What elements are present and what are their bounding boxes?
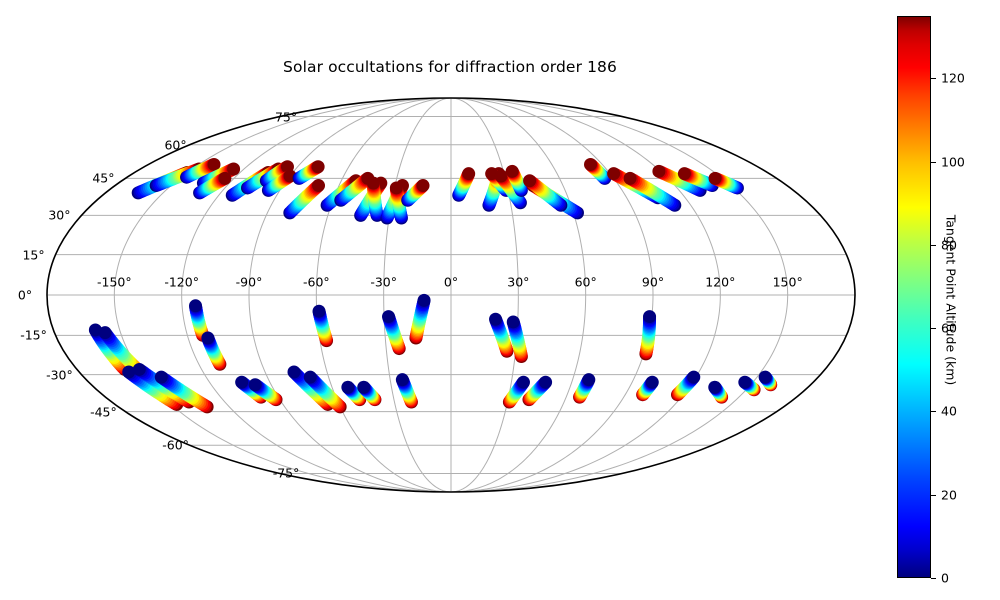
- track-point: [304, 371, 317, 384]
- track-point: [643, 310, 656, 323]
- occultation-track: [708, 381, 728, 404]
- colorbar-tick-mark: [931, 411, 936, 412]
- colorbar[interactable]: 020406080100120: [897, 16, 931, 578]
- track-point: [678, 167, 691, 180]
- occultation-track: [382, 310, 406, 355]
- lon-tick-label: -150°: [97, 275, 132, 290]
- colorbar-tick-label: 40: [941, 404, 957, 419]
- lat-tick-label: 45°: [92, 171, 114, 186]
- track-point: [584, 158, 597, 171]
- track-point: [624, 172, 637, 185]
- track-point: [341, 381, 354, 394]
- colorbar-tick-mark: [931, 495, 936, 496]
- colorbar-label: Tangent Point Altitude (km): [944, 215, 959, 386]
- track-point: [539, 376, 552, 389]
- lat-tick-label: -60°: [162, 438, 189, 453]
- track-point: [99, 326, 112, 339]
- track-point: [418, 294, 431, 307]
- graticule: [47, 98, 855, 492]
- lat-tick-label: 60°: [164, 137, 186, 152]
- colorbar-tick-label: 0: [941, 571, 949, 586]
- track-point: [523, 174, 536, 187]
- occultation-track: [452, 167, 475, 202]
- track-point: [201, 331, 214, 344]
- occultation-track: [201, 331, 226, 370]
- track-point: [646, 376, 659, 389]
- lon-tick-label: -90°: [236, 275, 263, 290]
- track-point: [133, 363, 146, 376]
- lon-tick-label: -60°: [303, 275, 330, 290]
- colorbar-tick-mark: [931, 578, 936, 579]
- track-point: [235, 376, 248, 389]
- track-point: [687, 371, 700, 384]
- lon-tick-label: 150°: [773, 275, 803, 290]
- lon-tick-label: 60°: [575, 275, 597, 290]
- colorbar-tick-mark: [931, 78, 936, 79]
- occultation-track: [759, 371, 778, 392]
- track-point: [708, 381, 721, 394]
- track-point: [155, 371, 168, 384]
- track-point: [218, 172, 231, 185]
- track-point: [382, 310, 395, 323]
- track-point: [312, 179, 325, 192]
- track-point: [738, 376, 751, 389]
- track-point: [709, 172, 722, 185]
- colorbar-tick-mark: [931, 162, 936, 163]
- track-point: [506, 165, 519, 178]
- track-point: [189, 299, 202, 312]
- track-point: [759, 371, 772, 384]
- colorbar-tick-label: 100: [941, 154, 965, 169]
- track-point: [462, 167, 475, 180]
- occultation-track: [671, 371, 700, 402]
- mollweide-map: [0, 0, 1000, 600]
- lat-tick-label: -30°: [46, 367, 73, 382]
- colorbar-gradient: [897, 16, 931, 578]
- occultation-track: [573, 373, 595, 403]
- lon-tick-label: -120°: [164, 275, 199, 290]
- occultation-track: [738, 376, 760, 397]
- lat-tick-label: 75°: [275, 109, 297, 124]
- occultation-track: [409, 294, 430, 345]
- occultation-track: [636, 376, 659, 401]
- lat-tick-label: -45°: [90, 404, 117, 419]
- track-point: [249, 378, 262, 391]
- lon-tick-label: -30°: [370, 275, 397, 290]
- colorbar-tick-mark: [931, 328, 936, 329]
- track-point: [357, 381, 370, 394]
- lat-tick-label: 15°: [22, 247, 44, 262]
- colorbar-tick-label: 20: [941, 487, 957, 502]
- lat-tick-label: 0°: [18, 288, 32, 303]
- lat-tick-label: 30°: [48, 208, 70, 223]
- track-point: [288, 366, 301, 379]
- lon-tick-label: 0°: [444, 275, 458, 290]
- track-point: [396, 373, 409, 386]
- colorbar-tick-mark: [931, 245, 936, 246]
- occultation-track: [584, 158, 611, 185]
- colorbar-tick-label: 120: [941, 71, 965, 86]
- lat-tick-label: -75°: [273, 466, 300, 481]
- occultation-track: [396, 373, 418, 408]
- track-point: [390, 181, 403, 194]
- occultation-track: [283, 179, 325, 219]
- track-point: [417, 179, 430, 192]
- lon-tick-label: 120°: [705, 275, 735, 290]
- lat-tick-label: -15°: [20, 328, 47, 343]
- track-point: [652, 165, 665, 178]
- track-point: [495, 170, 508, 183]
- track-point: [607, 167, 620, 180]
- lon-tick-label: 30°: [507, 275, 529, 290]
- track-point: [489, 313, 502, 326]
- track-point: [312, 160, 325, 173]
- track-point: [367, 177, 380, 190]
- occultation-track: [313, 305, 334, 347]
- track-point: [582, 373, 595, 386]
- figure-canvas: Solar occultations for diffraction order…: [0, 0, 1000, 600]
- track-point: [313, 305, 326, 318]
- lon-tick-label: 90°: [642, 275, 664, 290]
- track-point: [507, 315, 520, 328]
- track-point: [517, 376, 530, 389]
